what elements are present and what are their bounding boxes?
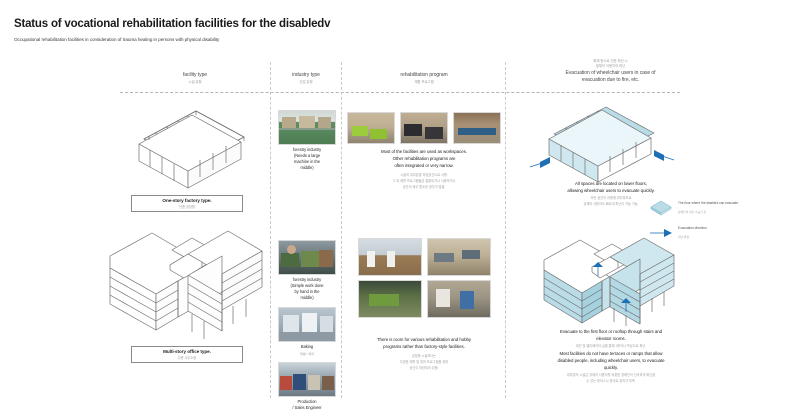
legend-row-plane: The floor where the disabled can evacuat… — [648, 196, 798, 218]
industry-caption-ko: 제빵 / 제과 — [276, 351, 338, 356]
industry-item: Production / Sales Engineer — [276, 362, 338, 411]
legend-plane-ko: 장애인이 피난 가능한 층 — [678, 210, 738, 214]
industry-caption-en: forestry industry (Simple work done by h… — [276, 277, 338, 301]
multi-story-office-isometric — [92, 228, 282, 346]
evacuation-text-row-2-ko-2: 대부분의 시설은 휠체어 사용자를 비롯한 장애인이 신속하게 피난할 수 있는… — [506, 373, 716, 385]
production-sales-photo — [278, 362, 336, 397]
forestry-industry-photo — [278, 110, 336, 145]
column-header-facility: facility type 시설 유형 — [120, 72, 270, 84]
rehab-text-row-1-en: Most of the facilities are used as works… — [345, 148, 503, 169]
rehab-photo-row — [345, 238, 503, 276]
baking-industry-photo — [278, 307, 336, 342]
facility-cell-row-2: Multi-story office type. 다층 사무소형 — [92, 228, 282, 364]
facility-label-row-2-ko: 다층 사무소형 — [144, 355, 230, 360]
rehab-lounge-photo-2 — [400, 112, 448, 144]
rehab-text-row-1-ko: 시설의 대부분을 작업공간으로 사용. 그 외 재활 프로그램들은 통합되거나 … — [345, 172, 503, 190]
industry-item: Baking 제빵 / 제과 — [276, 307, 338, 356]
facility-cell-row-1: One-story factory type. 단층 공장형 — [92, 103, 282, 213]
handwork-industry-photo — [278, 240, 336, 275]
column-header-industry-en: industry type — [272, 72, 340, 79]
rehab-text-row-2-en: There is room for various rehabilitation… — [345, 336, 503, 350]
rehab-photo-row — [345, 280, 503, 318]
evacuation-cell-row-1: All spaces are located on lower floors, … — [506, 100, 716, 208]
industry-caption-en: Baking — [276, 344, 338, 350]
column-header-rehab: rehabilitation program 재활 프로그램 — [345, 72, 503, 84]
industry-cell-row-1: forestry industry (Needs a large machine… — [276, 110, 338, 177]
column-header-industry: industry type 산업 유형 — [272, 72, 340, 84]
column-header-evacuation-en: Evacuation of wheelchair users in case o… — [508, 70, 713, 84]
legend-plane-text: The floor where the disabled can evacuat… — [678, 196, 738, 218]
rehab-room-photo-1 — [347, 112, 395, 144]
one-story-evacuation-isometric — [506, 100, 716, 178]
industry-item: forestry industry (Simple work done by h… — [276, 240, 338, 301]
facility-label-row-1-en: One-story factory type. — [144, 198, 230, 203]
industry-caption-en: forestry industry (Needs a large machine… — [276, 147, 338, 171]
column-header-facility-en: facility type — [120, 72, 270, 79]
one-story-factory-isometric — [92, 103, 282, 195]
evacuation-text-row-2-en-2: Most facilities do not have terraces or … — [506, 350, 716, 371]
column-header-facility-ko: 시설 유형 — [120, 80, 270, 85]
rehab-cell-row-2: There is room for various rehabilitation… — [345, 238, 503, 371]
column-header-rehab-ko: 재활 프로그램 — [345, 80, 503, 85]
industry-item: forestry industry (Needs a large machine… — [276, 110, 338, 171]
column-header-evacuation-ko: 화재 등으로 인한 피난 시 휠체어 이용자의 피난 — [508, 59, 713, 68]
rehab-text-row-1: Most of the facilities are used as works… — [345, 148, 503, 190]
column-header-evacuation: 화재 등으로 인한 피난 시 휠체어 이용자의 피난 Evacuation of… — [508, 58, 713, 84]
page-title: Status of vocational rehabilitation faci… — [14, 18, 330, 30]
rehab-garden-photo-3 — [358, 280, 422, 318]
rehab-class-photo-2 — [427, 238, 491, 276]
rehab-cell-row-1: Most of the facilities are used as works… — [345, 112, 503, 190]
facility-label-row-1: One-story factory type. 단층 공장형 — [131, 195, 243, 212]
facility-label-row-1-ko: 단층 공장형 — [144, 204, 230, 209]
evacuable-floor-icon — [648, 199, 674, 215]
column-divider-2 — [341, 62, 342, 398]
header-divider — [120, 92, 680, 93]
evacuation-cell-row-2: Evacuate to the first floor or rooftop t… — [506, 236, 716, 385]
multi-story-evacuation-isometric — [506, 236, 716, 326]
rehab-text-row-2: There is room for various rehabilitation… — [345, 336, 503, 371]
facility-label-row-2: Multi-story office type. 다층 사무소형 — [131, 346, 243, 363]
rehab-craft-photo-4 — [427, 280, 491, 318]
industry-caption-en: Production / Sales Engineer — [276, 399, 338, 411]
column-header-rehab-en: rehabilitation program — [345, 72, 503, 79]
column-header-industry-ko: 산업 유형 — [272, 80, 340, 85]
rehab-photo-row — [345, 112, 503, 144]
evacuation-text-row-2: Evacuate to the first floor or rooftop t… — [506, 328, 716, 385]
rehab-workspace-photo-3 — [453, 112, 501, 144]
rehab-text-row-2-ko: 공장형 시설보다는 다양한 재활 및 취미 프로그램을 위한 공간이 마련되어 … — [345, 353, 503, 371]
facility-label-row-2-en: Multi-story office type. — [144, 349, 230, 354]
evacuation-text-row-2-en-1: Evacuate to the first floor or rooftop t… — [506, 328, 716, 342]
page-subtitle: Occupational rehabilitation facilities i… — [14, 37, 219, 42]
legend-arrow-en: Evacuation direction — [678, 226, 707, 231]
legend-plane-en: The floor where the disabled can evacuat… — [678, 201, 738, 206]
rehab-taekwondo-photo-1 — [358, 238, 422, 276]
evacuation-text-row-1-en: All spaces are located on lower floors, … — [506, 180, 716, 194]
industry-cell-row-2: forestry industry (Simple work done by h… — [276, 240, 338, 416]
